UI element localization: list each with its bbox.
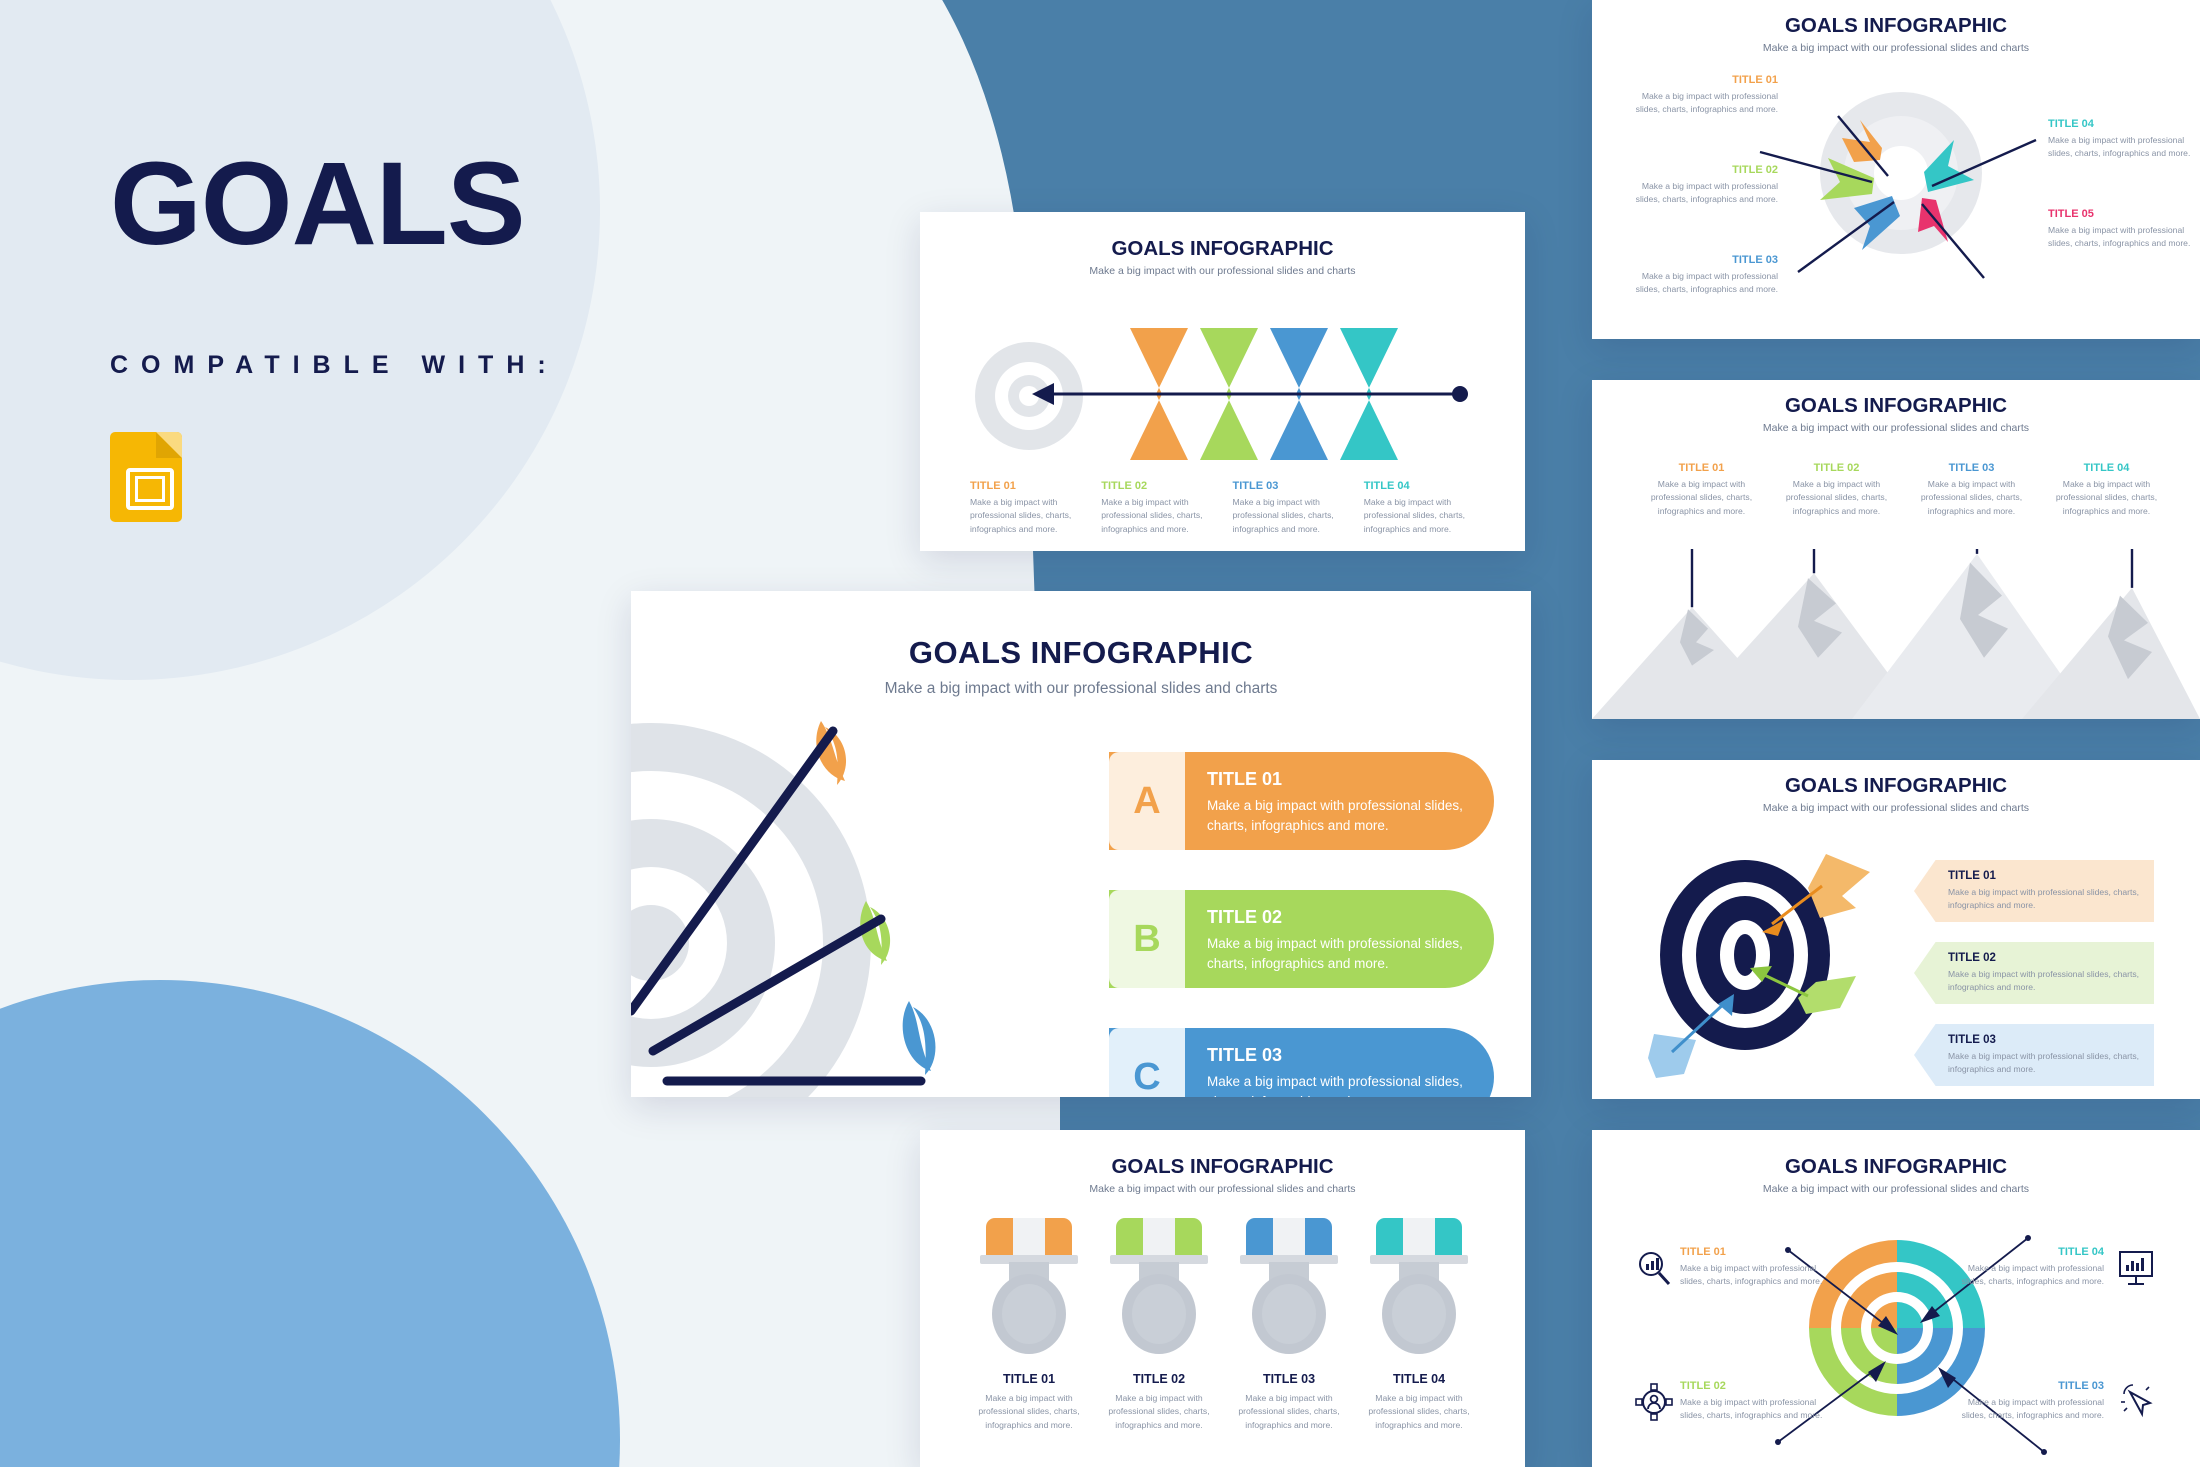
legend-title: TITLE 02 [1680, 1380, 1832, 1392]
legend-item: TITLE 04 Make a big impact with professi… [1364, 480, 1495, 536]
legend-desc: Make a big impact with professional slid… [1680, 1262, 1832, 1289]
medal-item: TITLE 02 Make a big impact with professi… [1094, 1218, 1224, 1432]
legend-title: TITLE 05 [2048, 208, 2198, 220]
legend-desc: Make a big impact with professional slid… [1233, 496, 1350, 536]
legend-desc: Make a big impact with professional slid… [2045, 478, 2168, 518]
legend-title: TITLE 04 [1952, 1246, 2104, 1258]
medal-desc: Make a big impact with professional slid… [1354, 1392, 1484, 1432]
card-letter: C [1109, 1028, 1185, 1097]
legend-desc: Make a big impact with professional slid… [970, 496, 1087, 536]
slide-chevron-arrow[interactable]: GOALS INFOGRAPHIC Make a big impact with… [920, 212, 1525, 551]
card-title: TITLE 02 [1207, 907, 1464, 928]
medal-desc: Make a big impact with professional slid… [1094, 1392, 1224, 1432]
legend-title: TITLE 01 [1628, 74, 1778, 86]
medal-icon [1368, 1218, 1470, 1360]
card-item[interactable]: A TITLE 01 Make a big impact with profes… [1109, 752, 1494, 850]
click-cursor-icon [2116, 1382, 2156, 1422]
medal-item: TITLE 03 Make a big impact with professi… [1224, 1218, 1354, 1432]
medal-title: TITLE 02 [1094, 1372, 1224, 1386]
legend-title: TITLE 04 [1364, 480, 1481, 492]
banner-item[interactable]: TITLE 03 Make a big impact with professi… [1914, 1024, 2154, 1086]
google-slides-icon[interactable] [110, 432, 182, 522]
banner-desc: Make a big impact with professional slid… [1948, 886, 2146, 912]
legend-title: TITLE 01 [1680, 1246, 1832, 1258]
banner-desc: Make a big impact with professional slid… [1948, 968, 2146, 994]
legend-title: TITLE 04 [2048, 118, 2198, 130]
slide-medals[interactable]: GOALS INFOGRAPHIC Make a big impact with… [920, 1130, 1525, 1467]
chevron-legend: TITLE 01 Make a big impact with professi… [970, 480, 1495, 536]
banner-item[interactable]: TITLE 02 Make a big impact with professi… [1914, 942, 2154, 1004]
legend-item: TITLE 01 Make a big impact with professi… [970, 480, 1101, 536]
banner-item[interactable]: TITLE 01 Make a big impact with professi… [1914, 860, 2154, 922]
page-title: GOALS [110, 145, 750, 263]
legend-desc: Make a big impact with professional slid… [2048, 224, 2198, 251]
card-letter: B [1109, 890, 1185, 988]
medal-item: TITLE 01 Make a big impact with professi… [964, 1218, 1094, 1432]
slide-subtitle: Make a big impact with our professional … [920, 1183, 1525, 1195]
slides-icon-frame [126, 468, 174, 510]
medal-desc: Make a big impact with professional slid… [1224, 1392, 1354, 1432]
legend-desc: Make a big impact with professional slid… [1640, 478, 1763, 518]
card-letter: A [1109, 752, 1185, 850]
slide-title: GOALS INFOGRAPHIC [631, 635, 1531, 671]
legend-item: TITLE 01 Make a big impact with professi… [1680, 1246, 1832, 1289]
slide-mountain-flags[interactable]: GOALS INFOGRAPHIC Make a big impact with… [1592, 380, 2200, 719]
arrows-graphic [1592, 760, 1922, 1099]
medal-item: TITLE 04 Make a big impact with professi… [1354, 1218, 1484, 1432]
banner-title: TITLE 02 [1948, 952, 2146, 964]
banner-list: TITLE 01 Make a big impact with professi… [1914, 860, 2154, 1099]
slide-subtitle: Make a big impact with our professional … [631, 680, 1531, 698]
legend-title: TITLE 04 [2045, 462, 2168, 474]
legend-item: TITLE 01 Make a big impact with professi… [1628, 74, 1778, 117]
legend-desc: Make a big impact with professional slid… [2048, 134, 2198, 161]
card-desc: Make a big impact with professional slid… [1207, 934, 1464, 975]
chevron-graphic [920, 322, 1525, 467]
legend-item: TITLE 02 Make a big impact with professi… [1628, 164, 1778, 207]
slide-subtitle: Make a big impact with our professional … [920, 265, 1525, 277]
legend-title: TITLE 02 [1101, 480, 1218, 492]
medal-title: TITLE 04 [1354, 1372, 1484, 1386]
legend-desc: Make a big impact with professional slid… [1910, 478, 2033, 518]
user-network-icon [1634, 1382, 1674, 1422]
arrows-graphic [631, 711, 1091, 1097]
magnifier-chart-icon [1634, 1248, 1674, 1288]
slide-title: GOALS INFOGRAPHIC [1592, 394, 2200, 418]
legend-item: TITLE 05 Make a big impact with professi… [2048, 208, 2198, 251]
slide-main-target-cards[interactable]: GOALS INFOGRAPHIC Make a big impact with… [631, 591, 1531, 1097]
medal-icon [1238, 1218, 1340, 1360]
legend-title: TITLE 01 [970, 480, 1087, 492]
banner-title: TITLE 03 [1948, 1034, 2146, 1046]
legend-item: TITLE 02 Make a big impact with professi… [1769, 462, 1904, 518]
legend-title: TITLE 01 [1640, 462, 1763, 474]
legend-item: TITLE 02 Make a big impact with professi… [1680, 1380, 1832, 1423]
legend-title: TITLE 02 [1628, 164, 1778, 176]
legend-item: TITLE 04 Make a big impact with professi… [1952, 1246, 2104, 1289]
card-title: TITLE 01 [1207, 769, 1464, 790]
card-desc: Make a big impact with professional slid… [1207, 1072, 1464, 1097]
slide-radar-arrows[interactable]: GOALS INFOGRAPHIC Make a big impact with… [1592, 0, 2200, 339]
slide-title: GOALS INFOGRAPHIC [920, 1155, 1525, 1179]
slide-color-rings[interactable]: GOALS INFOGRAPHIC Make a big impact with… [1592, 1130, 2200, 1467]
legend-title: TITLE 02 [1775, 462, 1898, 474]
card-title: TITLE 03 [1207, 1045, 1464, 1066]
legend-desc: Make a big impact with professional slid… [1628, 270, 1778, 297]
banner-title: TITLE 01 [1948, 870, 2146, 882]
cards-list: A TITLE 01 Make a big impact with profes… [1109, 752, 1494, 1097]
medal-icon [1108, 1218, 1210, 1360]
compatible-with-label: COMPATIBLE WITH: [110, 351, 750, 380]
legend-title: TITLE 03 [1233, 480, 1350, 492]
legend-desc: Make a big impact with professional slid… [1680, 1396, 1832, 1423]
legend-title: TITLE 03 [1910, 462, 2033, 474]
card-item[interactable]: C TITLE 03 Make a big impact with profes… [1109, 1028, 1494, 1097]
medal-icon [978, 1218, 1080, 1360]
medal-desc: Make a big impact with professional slid… [964, 1392, 1094, 1432]
legend-item: TITLE 03 Make a big impact with professi… [1904, 462, 2039, 518]
banner-desc: Make a big impact with professional slid… [1948, 1050, 2146, 1076]
slide-title: GOALS INFOGRAPHIC [920, 237, 1525, 261]
medal-title: TITLE 01 [964, 1372, 1094, 1386]
legend-desc: Make a big impact with professional slid… [1952, 1396, 2104, 1423]
presentation-chart-icon [2116, 1248, 2156, 1288]
legend-desc: Make a big impact with professional slid… [1775, 478, 1898, 518]
legend-item: TITLE 03 Make a big impact with professi… [1233, 480, 1364, 536]
slide-target-banners[interactable]: GOALS INFOGRAPHIC Make a big impact with… [1592, 760, 2200, 1099]
legend-item: TITLE 03 Make a big impact with professi… [1628, 254, 1778, 297]
legend-item: TITLE 02 Make a big impact with professi… [1101, 480, 1232, 536]
chevron-shapes [920, 322, 1525, 467]
legend-desc: Make a big impact with professional slid… [1628, 180, 1778, 207]
legend-item: TITLE 01 Make a big impact with professi… [1634, 462, 1769, 518]
mountain-legend: TITLE 01 Make a big impact with professi… [1634, 462, 2174, 518]
legend-title: TITLE 03 [1628, 254, 1778, 266]
legend-desc: Make a big impact with professional slid… [1952, 1262, 2104, 1289]
hero-block: GOALS COMPATIBLE WITH: [110, 145, 750, 522]
medal-title: TITLE 03 [1224, 1372, 1354, 1386]
legend-item: TITLE 03 Make a big impact with professi… [1952, 1380, 2104, 1423]
legend-title: TITLE 03 [1952, 1380, 2104, 1392]
card-item[interactable]: B TITLE 02 Make a big impact with profes… [1109, 890, 1494, 988]
mountain-graphic [1592, 549, 2200, 719]
medal-list: TITLE 01 Make a big impact with professi… [964, 1218, 1484, 1432]
poster-canvas: GOALS COMPATIBLE WITH: GOALS INFOGRAPHIC… [0, 0, 2200, 1467]
card-desc: Make a big impact with professional slid… [1207, 796, 1464, 837]
legend-desc: Make a big impact with professional slid… [1364, 496, 1481, 536]
slide-subtitle: Make a big impact with our professional … [1592, 422, 2200, 434]
legend-desc: Make a big impact with professional slid… [1101, 496, 1218, 536]
legend-item: TITLE 04 Make a big impact with professi… [2048, 118, 2198, 161]
legend-desc: Make a big impact with professional slid… [1628, 90, 1778, 117]
legend-item: TITLE 04 Make a big impact with professi… [2039, 462, 2174, 518]
